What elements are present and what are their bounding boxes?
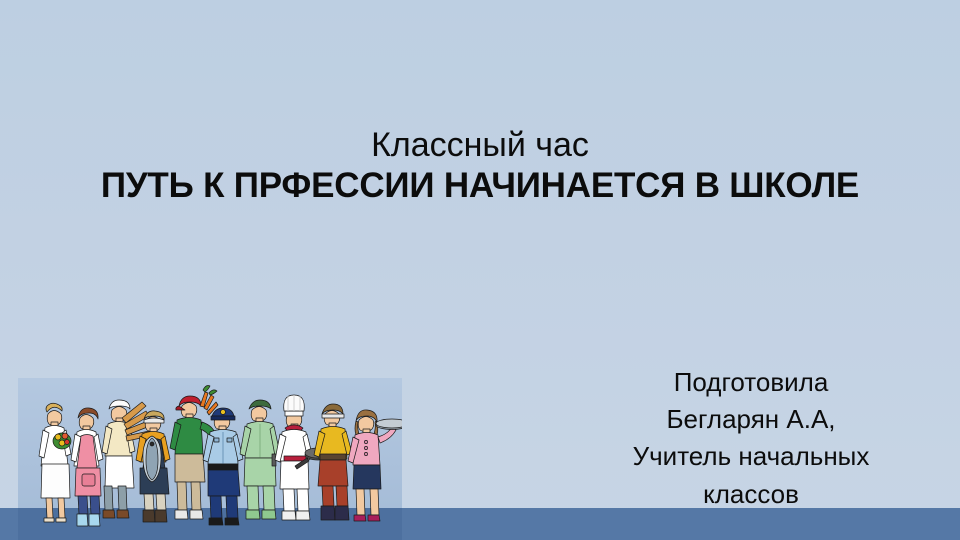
professions-group-illustration <box>18 378 402 540</box>
author-credit-block: Подготовила Бегларян А.А, Учитель началь… <box>606 364 896 513</box>
author-line-role-1: Учитель начальных <box>606 438 896 475</box>
title-subtitle-line: Классный час <box>48 126 912 164</box>
presentation-slide: Классный час ПУТЬ К ПРФЕССИИ НАЧИНАЕТСЯ … <box>0 0 960 540</box>
author-line-role-2: классов <box>606 476 896 513</box>
title-main-line: ПУТЬ К ПРФЕССИИ НАЧИНАЕТСЯ В ШКОЛЕ <box>48 166 912 206</box>
author-line-name: Бегларян А.А, <box>606 401 896 438</box>
slide-title: Классный час ПУТЬ К ПРФЕССИИ НАЧИНАЕТСЯ … <box>48 126 912 206</box>
author-line-prepared-by: Подготовила <box>606 364 896 401</box>
